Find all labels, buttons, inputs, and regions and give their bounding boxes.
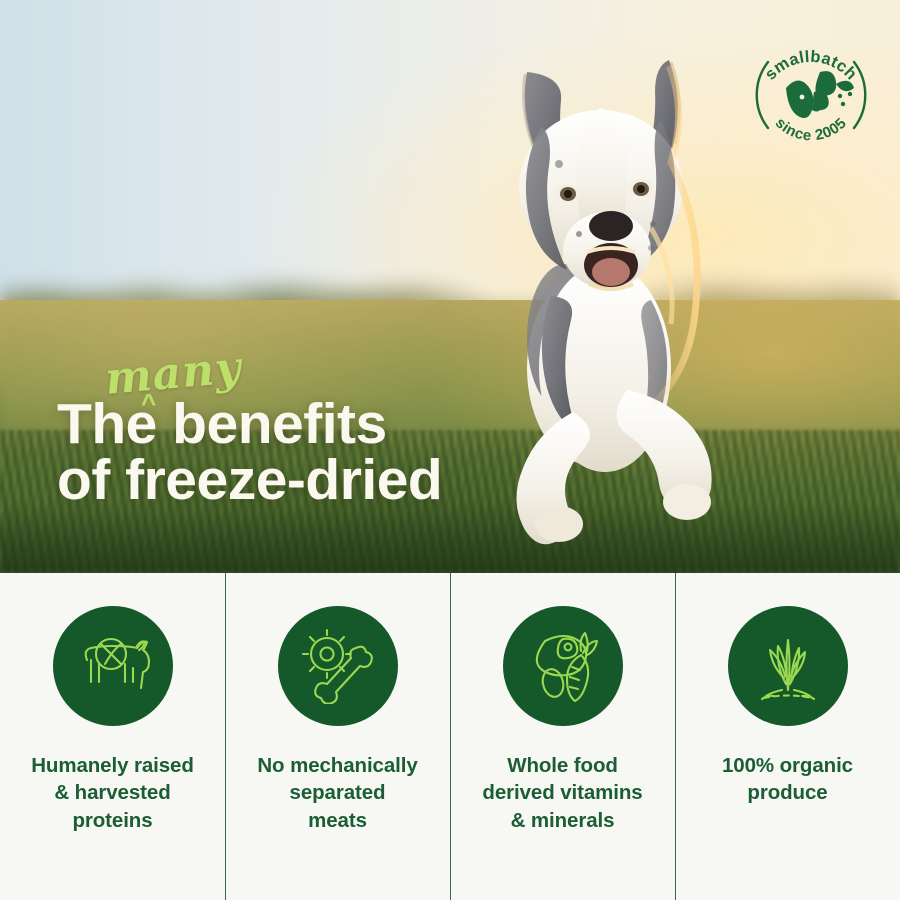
- caption-line-1: Humanely raised: [31, 754, 194, 777]
- hero-headline-block: many ^ The benefits of freeze-dried: [57, 352, 577, 509]
- benefit-icon-badge: [53, 606, 173, 726]
- caption-line-2: produce: [747, 781, 827, 804]
- benefit-column-whole-food-vitamins: Whole food derived vitamins & minerals: [450, 573, 675, 900]
- caption-line-3: & minerals: [511, 809, 615, 832]
- benefit-caption: Whole food derived vitamins & minerals: [460, 752, 665, 834]
- benefit-icon-badge: [728, 606, 848, 726]
- caption-line-1: Whole food: [507, 754, 618, 777]
- marketing-banner: smallbatch since 2005: [0, 0, 900, 900]
- steak-carrot-egg-icon: [523, 627, 603, 705]
- hero-photo: smallbatch since 2005: [0, 0, 900, 573]
- headline-caret-mark: ^: [141, 390, 156, 416]
- caption-line-2: derived vitamins: [482, 781, 642, 804]
- logo-brand-text: smallbatch: [761, 48, 860, 84]
- svg-text:since 2005: since 2005: [772, 114, 850, 144]
- grass-shadow: [0, 503, 900, 573]
- logo-tagline-text: since 2005: [772, 114, 850, 144]
- caption-line-2: separated: [290, 781, 386, 804]
- benefit-column-no-mechanically-separated: No mechanically separated meats: [225, 573, 450, 900]
- cow-no-hormones-icon: [71, 630, 155, 702]
- benefit-caption: 100% organic produce: [685, 752, 890, 807]
- gear-and-bone-icon: [300, 628, 376, 704]
- benefit-icon-badge: [503, 606, 623, 726]
- benefit-caption: Humanely raised & harvested proteins: [10, 752, 215, 834]
- benefit-column-humanely-raised: Humanely raised & harvested proteins: [0, 573, 225, 900]
- sprouting-plant-icon: [752, 626, 824, 706]
- svg-text:smallbatch: smallbatch: [761, 48, 860, 84]
- brand-logo[interactable]: smallbatch since 2005: [744, 28, 878, 162]
- benefit-icon-badge: [278, 606, 398, 726]
- caption-line-2: & harvested: [54, 781, 170, 804]
- caption-line-1: 100% organic: [722, 754, 853, 777]
- caption-line-1: No mechanically: [257, 754, 417, 777]
- benefit-caption: No mechanically separated meats: [235, 752, 440, 834]
- headline-line-2: of freeze-dried: [57, 452, 577, 508]
- benefit-column-organic-produce: 100% organic produce: [675, 573, 900, 900]
- benefits-panel: Humanely raised & harvested proteins: [0, 573, 900, 900]
- caption-line-3: meats: [308, 809, 367, 832]
- caption-line-3: proteins: [72, 809, 152, 832]
